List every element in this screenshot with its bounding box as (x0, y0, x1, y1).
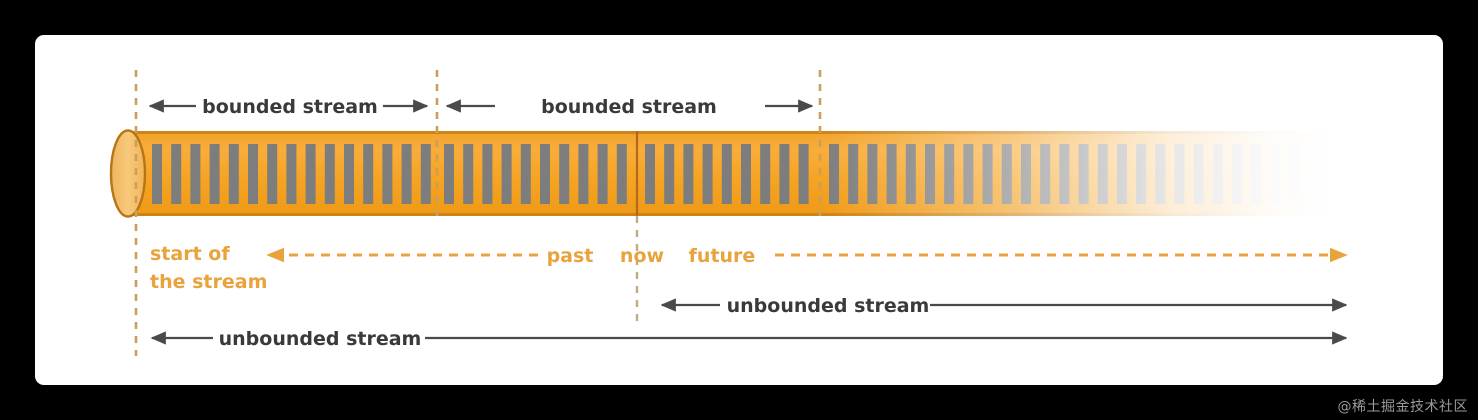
span-unbounded-stream-upper: unbounded stream (662, 295, 1346, 317)
span-bounded-stream-left: bounded stream (150, 96, 427, 118)
future-label: future (689, 245, 756, 267)
unbounded-lower-label: unbounded stream (219, 328, 422, 350)
bounded-right-label: bounded stream (541, 96, 717, 118)
past-label: past (547, 245, 594, 267)
span-bounded-stream-right: bounded stream (447, 96, 812, 118)
start-of-stream-line1: start of (150, 243, 230, 265)
screenshot-root: bounded stream bounded stream past now f… (0, 0, 1478, 420)
tube-fade-overlay (820, 126, 1336, 222)
tube-cap (111, 131, 145, 217)
unbounded-upper-label: unbounded stream (727, 295, 930, 317)
bounded-left-label: bounded stream (202, 96, 378, 118)
watermark-text: @稀土掘金技术社区 (1338, 396, 1469, 416)
start-of-stream-label: start of the stream (150, 243, 267, 293)
time-axis: past now future (268, 245, 1346, 267)
stream-diagram: bounded stream bounded stream past now f… (0, 0, 1478, 420)
stream-tube (111, 126, 1336, 222)
span-unbounded-stream-lower: unbounded stream (152, 328, 1346, 350)
now-label: now (620, 245, 664, 267)
start-of-stream-line2: the stream (150, 271, 267, 293)
